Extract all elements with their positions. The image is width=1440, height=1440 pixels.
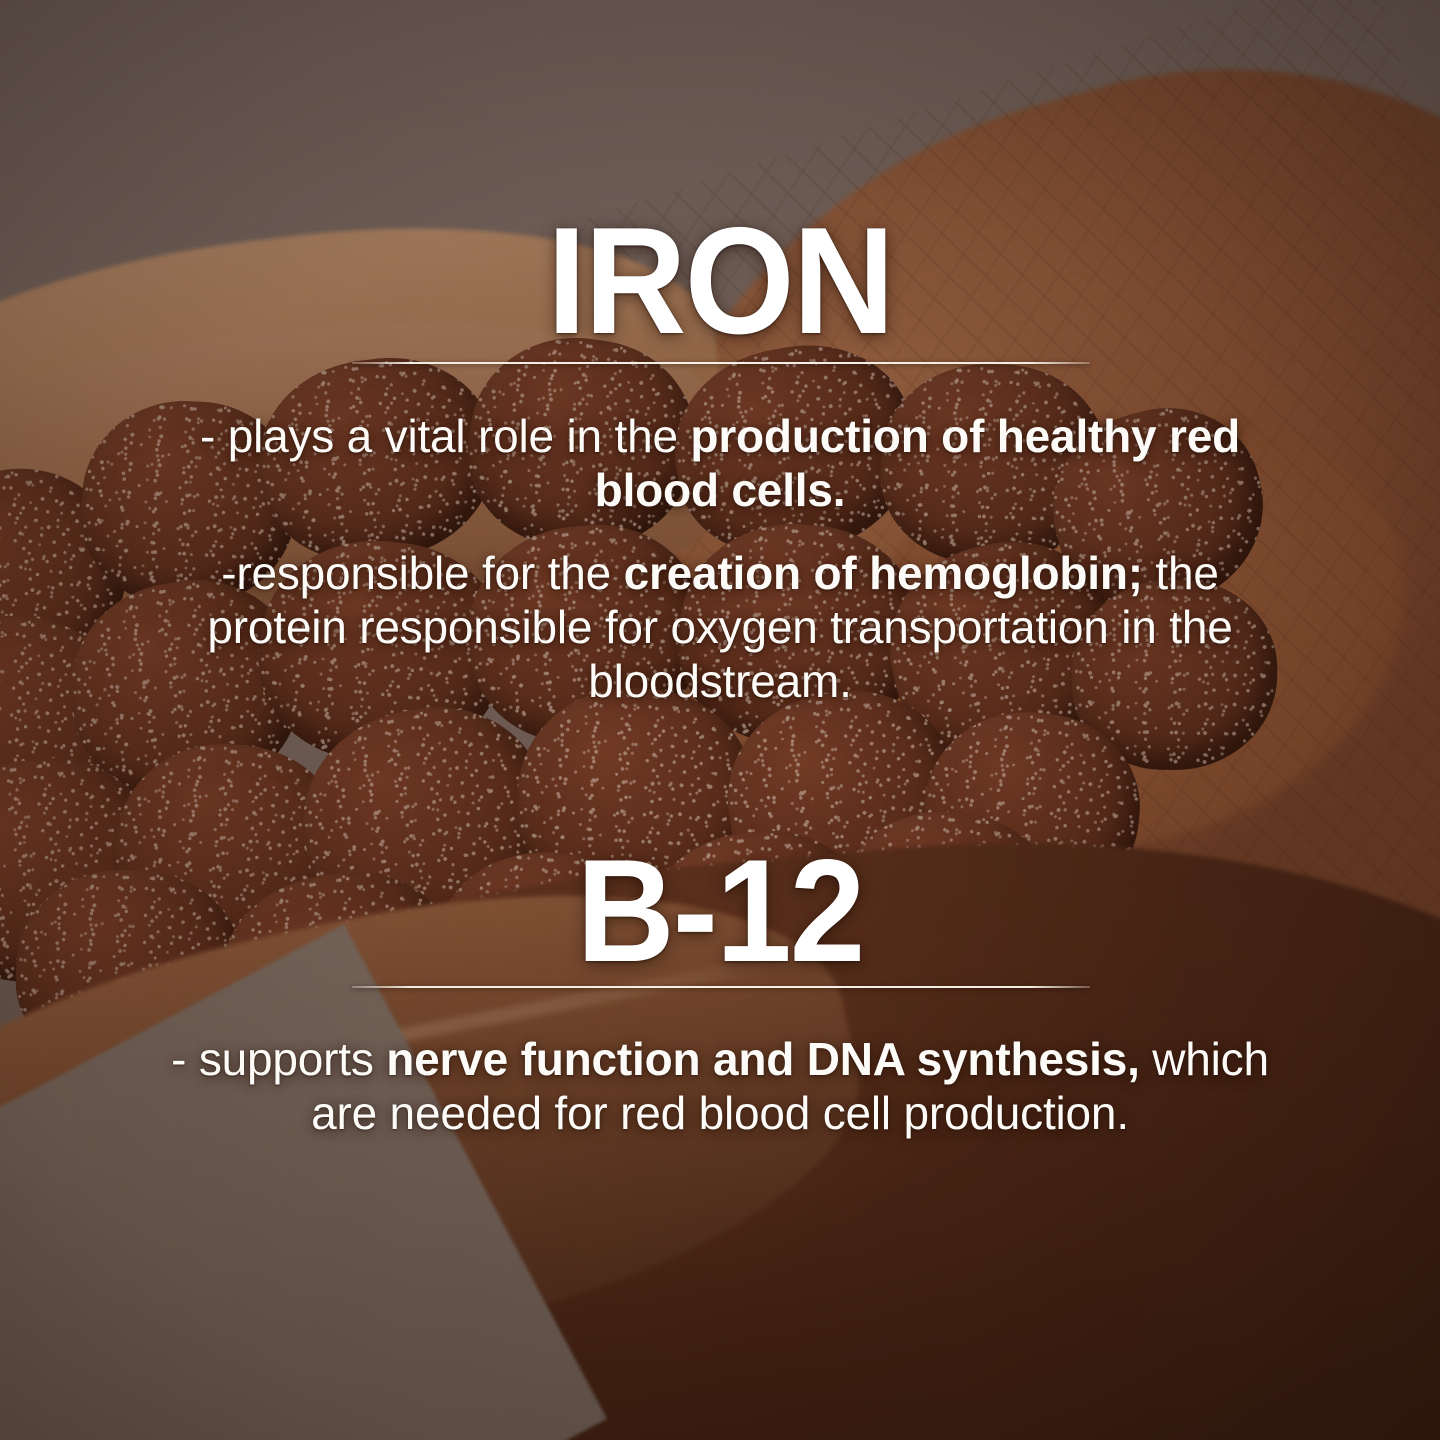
paragraph-iron-2-lead: -responsible for the [221,547,623,599]
paragraph-iron-1-emphasis: production of healthy red blood cells. [595,410,1240,516]
text-overlay: IRON - plays a vital role in the product… [0,0,1440,1440]
infographic-canvas: IRON - plays a vital role in the product… [0,0,1440,1440]
paragraph-iron-1-lead: - plays a vital role in the [200,410,690,462]
paragraph-iron-2-emphasis: creation of hemoglobin; [624,547,1143,599]
paragraph-iron-2: -responsible for the creation of hemoglo… [155,547,1285,708]
divider-under-iron [352,362,1090,364]
paragraph-b12-1: - supports nerve function and DNA synthe… [155,1033,1285,1141]
divider-under-b12 [352,986,1090,988]
paragraph-b12-1-lead: - supports [171,1033,386,1085]
heading-iron: IRON [50,205,1389,357]
paragraph-b12-1-emphasis: nerve function and DNA synthesis, [386,1033,1139,1085]
heading-b12: B-12 [50,838,1389,984]
paragraph-iron-1: - plays a vital role in the production o… [155,410,1285,518]
